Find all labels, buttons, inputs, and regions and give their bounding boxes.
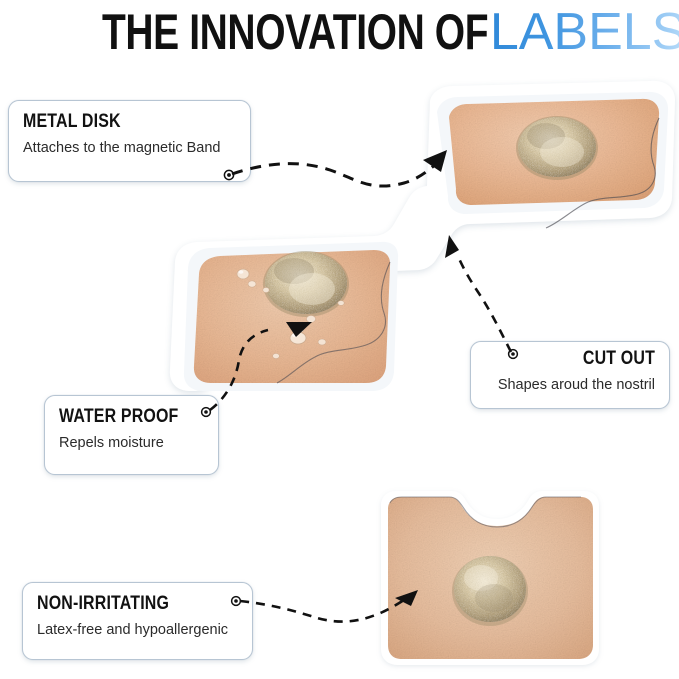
callout-cut-out-subtitle: Shapes aroud the nostril xyxy=(485,375,655,395)
callout-cut-out-title: CUT OUT xyxy=(512,348,655,370)
callout-cut-out[interactable]: CUT OUT Shapes aroud the nostril xyxy=(470,341,670,409)
callout-non-irritating-subtitle: Latex-free and hypoallergenic xyxy=(37,620,238,640)
lower-patch xyxy=(184,242,398,391)
callout-water-proof-subtitle: Repels moisture xyxy=(59,433,204,453)
callout-metal-disk-subtitle: Attaches to the magnetic Band xyxy=(23,138,236,158)
single-patch-with-cutout xyxy=(381,491,599,665)
callout-metal-disk-title: METAL DISK xyxy=(23,111,202,133)
metal-disk-lower xyxy=(263,251,349,317)
callout-non-irritating-title: NON-IRRITATING xyxy=(37,593,206,615)
callout-non-irritating[interactable]: NON-IRRITATING Latex-free and hypoallerg… xyxy=(22,582,253,660)
callout-water-proof[interactable]: WATER PROOF Repels moisture xyxy=(44,395,219,475)
callout-water-proof-title: WATER PROOF xyxy=(59,406,181,428)
callout-metal-disk[interactable]: METAL DISK Attaches to the magnetic Band xyxy=(8,100,251,182)
infographic-canvas: THE INNOVATION OF LABELS xyxy=(0,0,679,679)
upper-patch xyxy=(437,92,668,228)
metal-disk-upper xyxy=(516,116,598,180)
metal-disk-single xyxy=(452,556,528,626)
